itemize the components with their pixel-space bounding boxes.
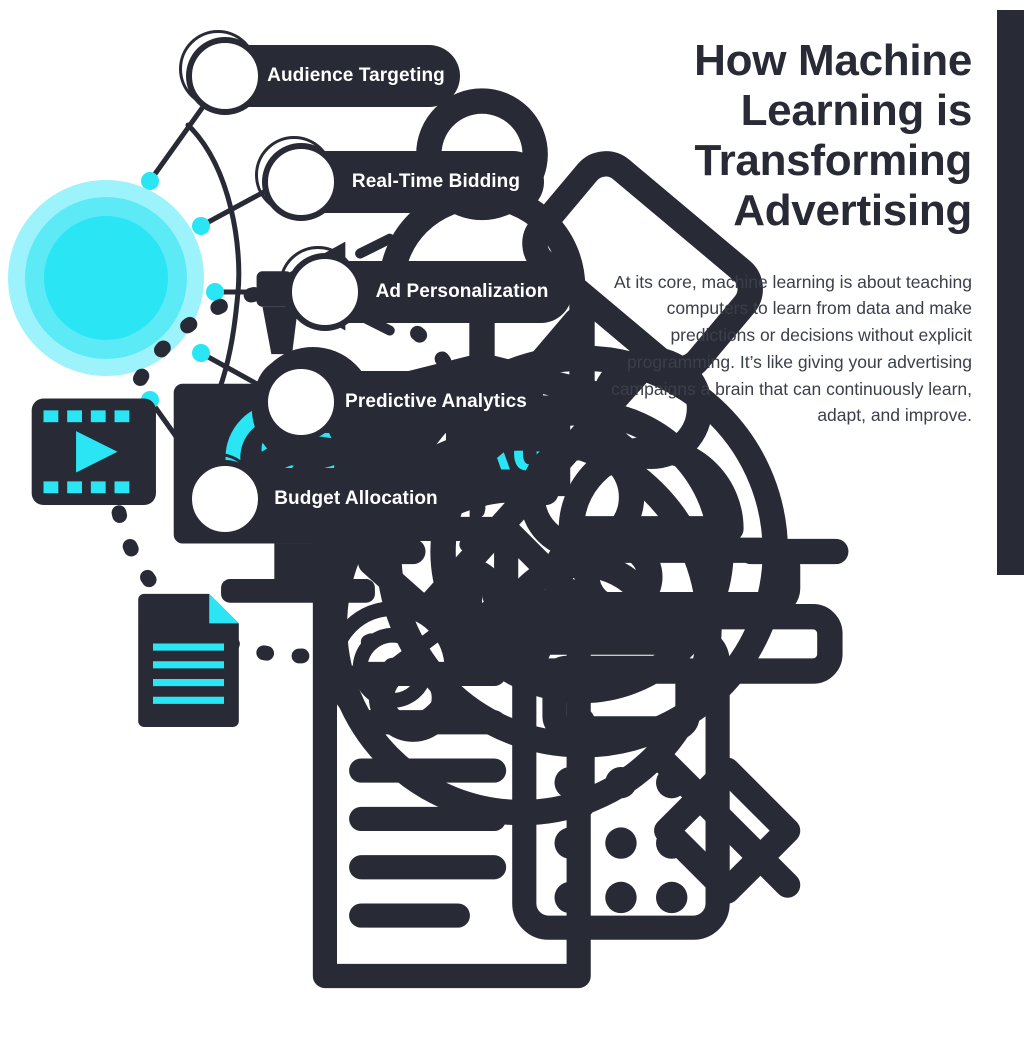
machine-learning-advertising-hub: Ad bbox=[8, 180, 204, 376]
node-real-time-bidding[interactable]: Real-Time Bidding bbox=[284, 151, 544, 213]
badge-predictive-analytics bbox=[262, 363, 340, 441]
video-film-strip-icon bbox=[32, 399, 156, 506]
badge-main-ring bbox=[186, 460, 264, 538]
text-column: How Machine Learning is Transforming Adv… bbox=[590, 36, 972, 429]
node-ad-personalization[interactable]: Ad Personalization bbox=[308, 261, 572, 323]
body-paragraph: At its core, machine learning is about t… bbox=[590, 269, 972, 430]
infographic-canvas: Ad bbox=[0, 0, 1024, 585]
badge-real-time-bidding bbox=[262, 143, 340, 221]
badge-main-ring bbox=[286, 253, 364, 331]
diagram-area: Ad bbox=[0, 0, 580, 585]
page-title: How Machine Learning is Transforming Adv… bbox=[590, 36, 972, 237]
badge-main-ring bbox=[262, 363, 340, 441]
badge-main-ring bbox=[262, 143, 340, 221]
badge-main-ring bbox=[186, 37, 264, 115]
node-audience-targeting[interactable]: Audience Targeting bbox=[208, 45, 460, 107]
node-predictive-analytics[interactable]: Predictive Analytics bbox=[284, 371, 544, 433]
node-budget-allocation[interactable]: Budget Allocation bbox=[208, 468, 460, 530]
right-accent-bar bbox=[997, 10, 1024, 575]
badge-audience-targeting bbox=[186, 37, 264, 115]
invoice-calculator-icon bbox=[192, 466, 772, 1051]
badge-ad-personalization bbox=[286, 253, 364, 331]
badge-budget-allocation bbox=[186, 460, 264, 538]
